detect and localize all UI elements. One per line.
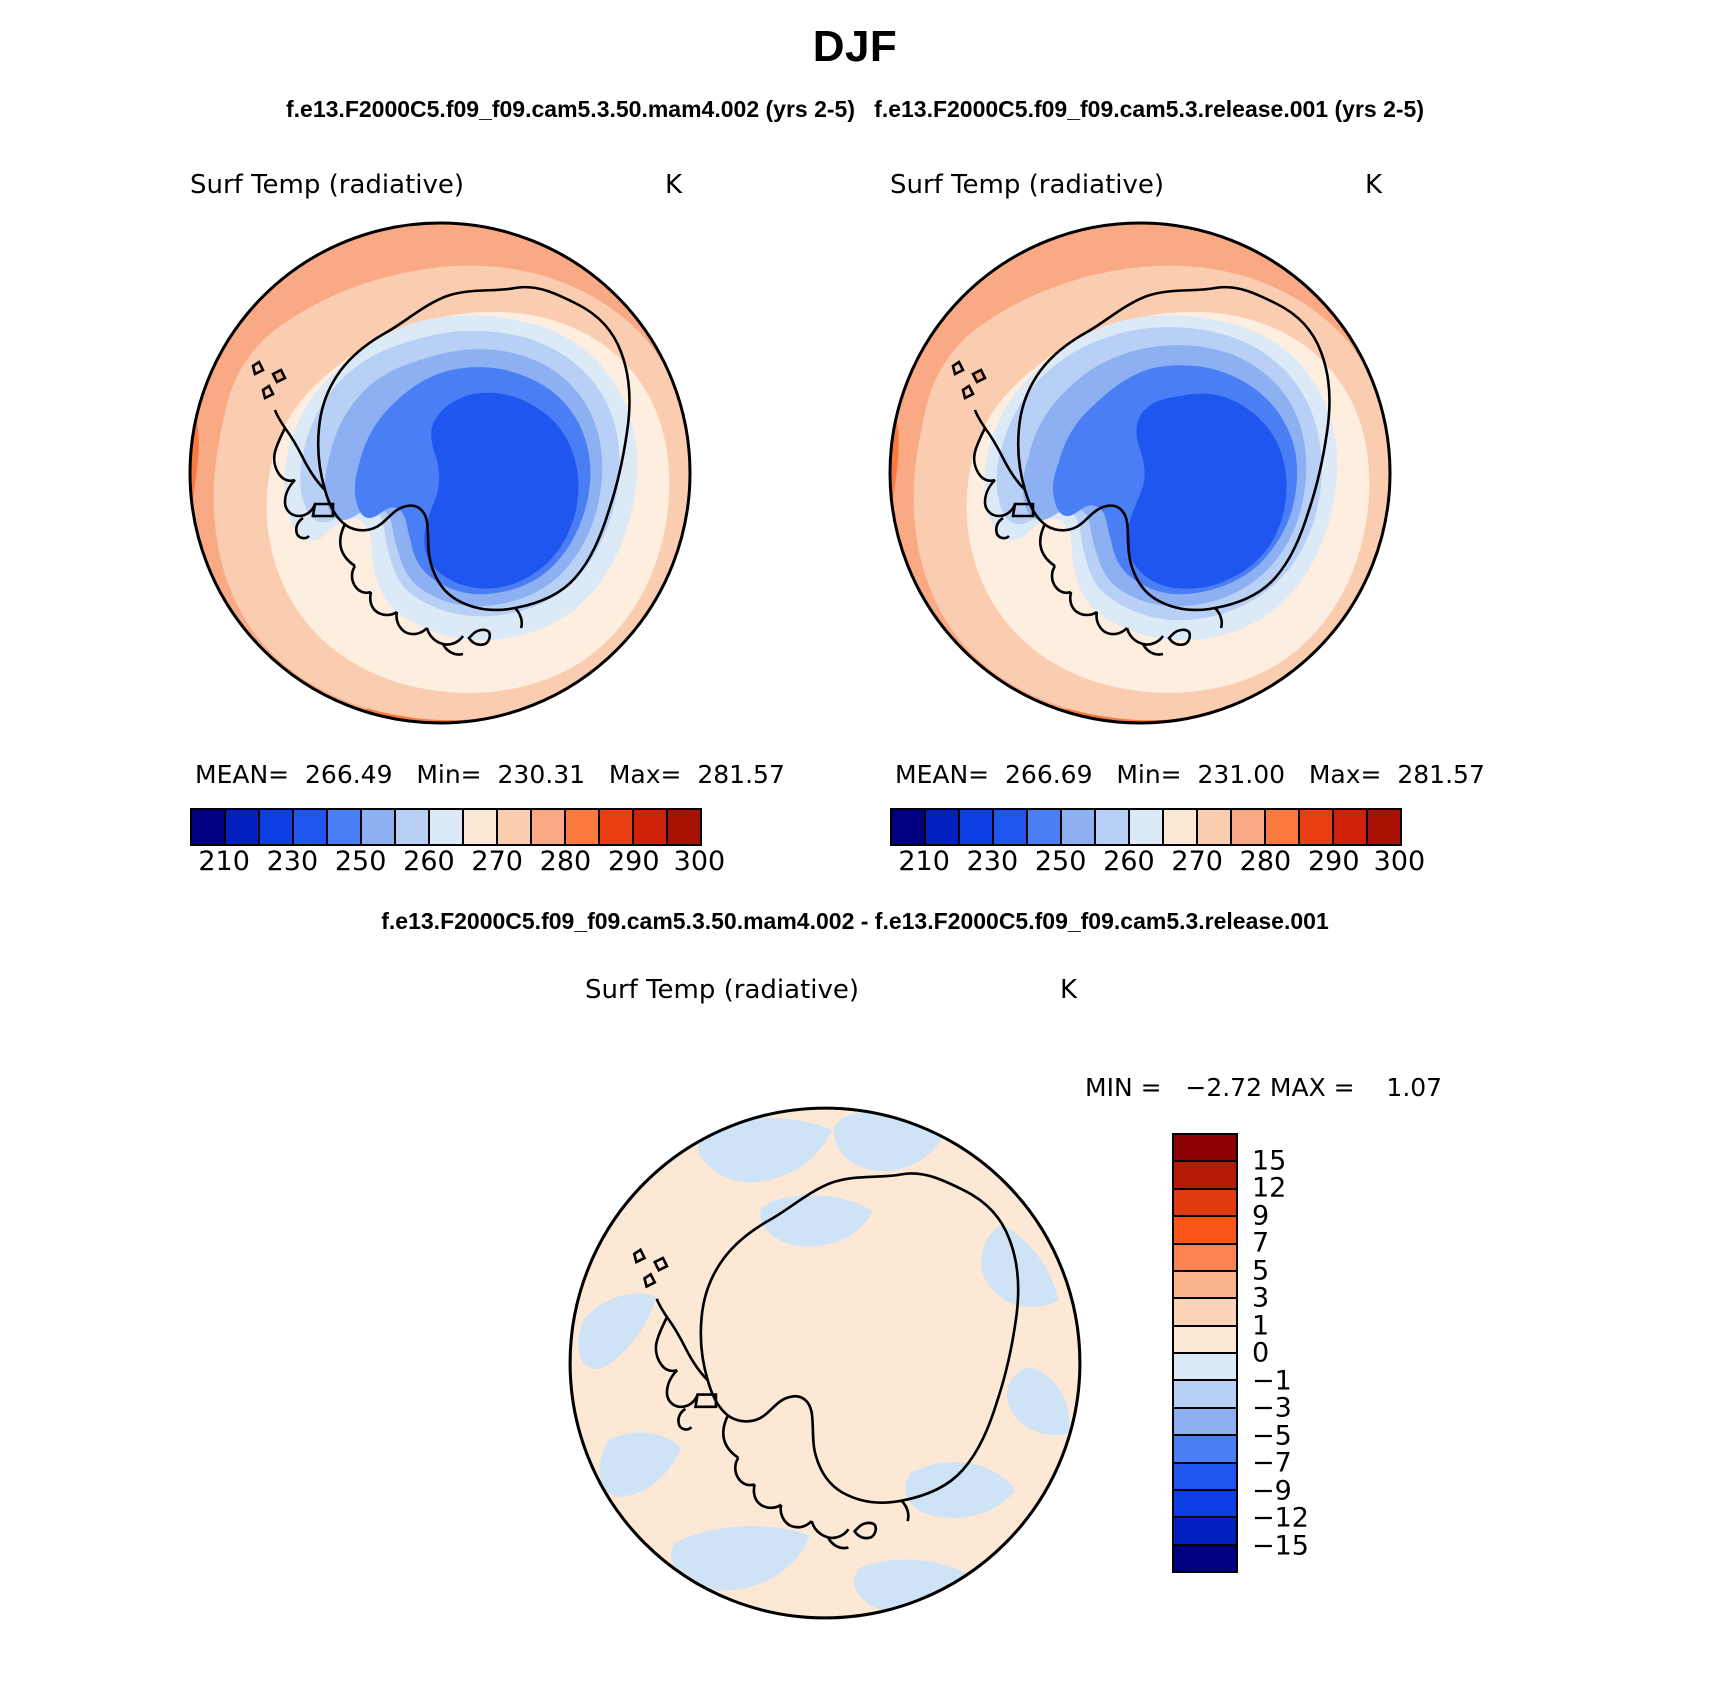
colorbar-swatch bbox=[1174, 1217, 1236, 1244]
left-panel-stats: MEAN= 266.49 Min= 230.31 Max= 281.57 bbox=[195, 760, 785, 789]
colorbar-tick-label: −5 bbox=[1252, 1420, 1292, 1451]
colorbar-swatch bbox=[532, 810, 566, 844]
colorbar-swatch bbox=[926, 810, 960, 844]
left-map-svg bbox=[185, 218, 695, 728]
difference-polar-map bbox=[565, 1103, 1085, 1623]
difference-map-svg bbox=[565, 1103, 1085, 1623]
colorbar-tick-label: 230 bbox=[267, 846, 319, 877]
colorbar-tick-label: −9 bbox=[1252, 1475, 1292, 1506]
main-title: DJF bbox=[0, 22, 1710, 72]
colorbar-tick-label: 210 bbox=[198, 846, 250, 877]
colorbar-swatch bbox=[1232, 810, 1266, 844]
colorbar-swatch bbox=[1198, 810, 1232, 844]
colorbar-tick-label: 5 bbox=[1252, 1255, 1269, 1286]
colorbar-tick-label: −15 bbox=[1252, 1530, 1309, 1561]
colorbar-tick-label: 0 bbox=[1252, 1338, 1269, 1369]
colorbar-tick-label: −1 bbox=[1252, 1365, 1292, 1396]
right-polar-map bbox=[885, 218, 1395, 728]
colorbar-swatch bbox=[960, 810, 994, 844]
colorbar-swatch bbox=[192, 810, 226, 844]
diff-panel-minmax: MIN = −2.72 MAX = 1.07 bbox=[1085, 1073, 1442, 1102]
colorbar-tick-label: 260 bbox=[1103, 846, 1155, 877]
left-polar-map bbox=[185, 218, 695, 728]
colorbar-tick-label: 210 bbox=[898, 846, 950, 877]
colorbar-swatch bbox=[1096, 810, 1130, 844]
colorbar-tick-label: 15 bbox=[1252, 1145, 1286, 1176]
colorbar-swatch bbox=[1174, 1491, 1236, 1518]
colorbar-swatch bbox=[1062, 810, 1096, 844]
right-colorbar-swatches bbox=[890, 808, 1402, 846]
left-panel-variable-label: Surf Temp (radiative) bbox=[190, 170, 464, 200]
colorbar-swatch bbox=[1174, 1546, 1236, 1571]
right-panel-units-label: K bbox=[1365, 170, 1382, 200]
colorbar-swatch bbox=[1174, 1409, 1236, 1436]
left-panel-units-label: K bbox=[665, 170, 682, 200]
colorbar-swatch bbox=[1028, 810, 1062, 844]
right-panel-stats: MEAN= 266.69 Min= 231.00 Max= 281.57 bbox=[895, 760, 1485, 789]
case-a-label: f.e13.F2000C5.f09_f09.cam5.3.50.mam4.002… bbox=[286, 96, 855, 122]
colorbar-swatch bbox=[1266, 810, 1300, 844]
left-colorbar: 210 230 250 260 270 280 290 300 bbox=[190, 808, 702, 880]
colorbar-swatch bbox=[1174, 1354, 1236, 1381]
colorbar-swatch bbox=[1368, 810, 1400, 844]
colorbar-tick-label: 300 bbox=[674, 846, 726, 877]
colorbar-swatch bbox=[1174, 1162, 1236, 1189]
difference-colorbar-labels: 15 12 9 7 5 3 1 0 −1 −3 −5 −7 −9 −12 −15 bbox=[1252, 1133, 1372, 1573]
case-subtitle-gap bbox=[855, 96, 874, 122]
colorbar-tick-label: 260 bbox=[403, 846, 455, 877]
colorbar-swatch bbox=[1174, 1464, 1236, 1491]
right-panel-variable-label: Surf Temp (radiative) bbox=[890, 170, 1164, 200]
colorbar-tick-label: −12 bbox=[1252, 1503, 1309, 1534]
colorbar-tick-label: 290 bbox=[1308, 846, 1360, 877]
colorbar-swatch bbox=[1130, 810, 1164, 844]
colorbar-swatch bbox=[1174, 1327, 1236, 1354]
difference-colorbar-swatches bbox=[1172, 1133, 1238, 1573]
difference-title: f.e13.F2000C5.f09_f09.cam5.3.50.mam4.002… bbox=[0, 908, 1710, 935]
colorbar-swatch bbox=[1174, 1272, 1236, 1299]
colorbar-swatch bbox=[226, 810, 260, 844]
colorbar-tick-label: 270 bbox=[471, 846, 523, 877]
colorbar-swatch bbox=[1174, 1190, 1236, 1217]
colorbar-tick-label: 280 bbox=[1240, 846, 1292, 877]
colorbar-tick-label: 250 bbox=[335, 846, 387, 877]
colorbar-swatch bbox=[1174, 1436, 1236, 1463]
colorbar-swatch bbox=[1174, 1135, 1236, 1162]
colorbar-tick-label: 280 bbox=[540, 846, 592, 877]
colorbar-swatch bbox=[396, 810, 430, 844]
colorbar-tick-label: −3 bbox=[1252, 1393, 1292, 1424]
colorbar-swatch bbox=[1174, 1299, 1236, 1326]
panel-left: Surf Temp (radiative) K bbox=[125, 160, 745, 920]
right-colorbar-labels: 210 230 250 260 270 280 290 300 bbox=[890, 846, 1402, 880]
colorbar-tick-label: 1 bbox=[1252, 1310, 1269, 1341]
right-colorbar: 210 230 250 260 270 280 290 300 bbox=[890, 808, 1402, 880]
colorbar-tick-label: −7 bbox=[1252, 1448, 1292, 1479]
colorbar-swatch bbox=[1174, 1381, 1236, 1408]
colorbar-tick-label: 250 bbox=[1035, 846, 1087, 877]
diff-panel-units-label: K bbox=[1060, 975, 1077, 1005]
panel-difference: Surf Temp (radiative) K MIN = −2.72 MAX … bbox=[460, 975, 1460, 1675]
colorbar-tick-label: 230 bbox=[967, 846, 1019, 877]
case-b-label: f.e13.F2000C5.f09_f09.cam5.3.release.001… bbox=[874, 96, 1424, 122]
colorbar-swatch bbox=[668, 810, 700, 844]
colorbar-tick-label: 12 bbox=[1252, 1173, 1286, 1204]
colorbar-swatch bbox=[260, 810, 294, 844]
colorbar-swatch bbox=[1164, 810, 1198, 844]
colorbar-swatch bbox=[1300, 810, 1334, 844]
colorbar-swatch bbox=[1174, 1245, 1236, 1272]
colorbar-swatch bbox=[1174, 1518, 1236, 1545]
colorbar-swatch bbox=[634, 810, 668, 844]
colorbar-tick-label: 7 bbox=[1252, 1228, 1269, 1259]
colorbar-swatch bbox=[328, 810, 362, 844]
diff-panel-variable-label: Surf Temp (radiative) bbox=[585, 975, 859, 1005]
left-colorbar-swatches bbox=[190, 808, 702, 846]
colorbar-swatch bbox=[464, 810, 498, 844]
case-subtitle: f.e13.F2000C5.f09_f09.cam5.3.50.mam4.002… bbox=[0, 96, 1710, 123]
colorbar-swatch bbox=[994, 810, 1028, 844]
colorbar-tick-label: 290 bbox=[608, 846, 660, 877]
colorbar-swatch bbox=[566, 810, 600, 844]
panel-right: Surf Temp (radiative) K bbox=[825, 160, 1445, 920]
colorbar-swatch bbox=[362, 810, 396, 844]
difference-colorbar: 15 12 9 7 5 3 1 0 −1 −3 −5 −7 −9 −12 −15 bbox=[1172, 1133, 1372, 1573]
colorbar-tick-label: 300 bbox=[1374, 846, 1426, 877]
colorbar-swatch bbox=[498, 810, 532, 844]
colorbar-swatch bbox=[1334, 810, 1368, 844]
left-colorbar-labels: 210 230 250 260 270 280 290 300 bbox=[190, 846, 702, 880]
colorbar-tick-label: 270 bbox=[1171, 846, 1223, 877]
colorbar-tick-label: 3 bbox=[1252, 1283, 1269, 1314]
colorbar-swatch bbox=[294, 810, 328, 844]
colorbar-tick-label: 9 bbox=[1252, 1200, 1269, 1231]
right-map-svg bbox=[885, 218, 1395, 728]
colorbar-swatch bbox=[430, 810, 464, 844]
colorbar-swatch bbox=[892, 810, 926, 844]
colorbar-swatch bbox=[600, 810, 634, 844]
